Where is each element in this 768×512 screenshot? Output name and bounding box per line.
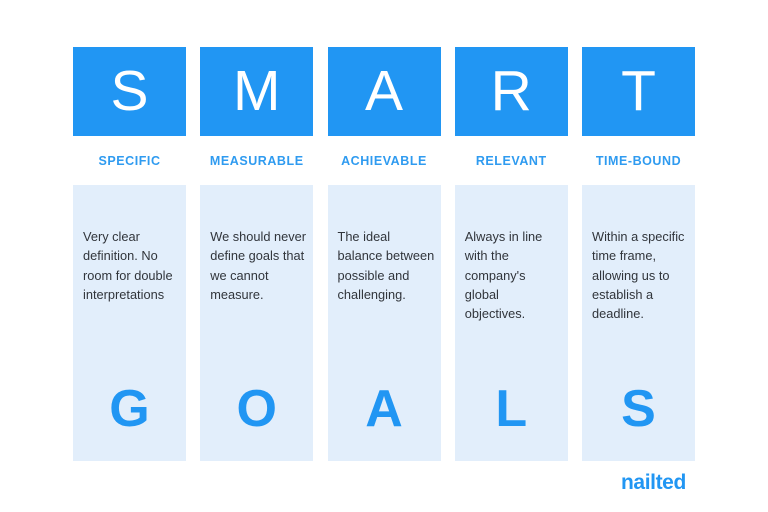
smart-letter-s: S bbox=[110, 63, 148, 120]
description-specific: Very clear definition. No room for doubl… bbox=[83, 227, 180, 304]
letter-box-m: M bbox=[200, 47, 313, 136]
caption-relevant: RELEVANT bbox=[455, 136, 568, 185]
smart-column-relevant: R RELEVANT Always in line with the compa… bbox=[455, 47, 568, 461]
panel-measurable: We should never define goals that we can… bbox=[200, 185, 313, 461]
letter-box-s: S bbox=[73, 47, 186, 136]
smart-columns: S SPECIFIC Very clear definition. No roo… bbox=[73, 47, 695, 461]
caption-label-achievable: ACHIEVABLE bbox=[341, 154, 427, 168]
nailted-logo: nailted bbox=[621, 471, 701, 495]
smart-column-achievable: A ACHIEVABLE The ideal balance between p… bbox=[328, 47, 441, 461]
caption-label-time-bound: TIME-BOUND bbox=[596, 154, 681, 168]
nailted-logo-text: nailted bbox=[621, 471, 686, 494]
goal-letter-a: A bbox=[328, 383, 441, 435]
smart-column-specific: S SPECIFIC Very clear definition. No roo… bbox=[73, 47, 186, 461]
goal-letter-g: G bbox=[73, 383, 186, 435]
panel-time-bound: Within a specific time frame, allowing u… bbox=[582, 185, 695, 461]
smart-letter-m: M bbox=[233, 63, 280, 120]
description-relevant: Always in line with the company's global… bbox=[465, 227, 562, 323]
goal-letter-l: L bbox=[455, 383, 568, 435]
smart-goals-infographic: S SPECIFIC Very clear definition. No roo… bbox=[0, 0, 768, 512]
smart-letter-a: A bbox=[365, 63, 403, 120]
panel-specific: Very clear definition. No room for doubl… bbox=[73, 185, 186, 461]
goal-letter-s: S bbox=[582, 383, 695, 435]
caption-label-specific: SPECIFIC bbox=[98, 154, 160, 168]
caption-achievable: ACHIEVABLE bbox=[328, 136, 441, 185]
letter-box-a: A bbox=[328, 47, 441, 136]
description-measurable: We should never define goals that we can… bbox=[210, 227, 307, 304]
caption-time-bound: TIME-BOUND bbox=[582, 136, 695, 185]
panel-achievable: The ideal balance between possible and c… bbox=[328, 185, 441, 461]
letter-box-t: T bbox=[582, 47, 695, 136]
goal-letter-o: O bbox=[200, 383, 313, 435]
smart-letter-t: T bbox=[621, 63, 656, 120]
caption-specific: SPECIFIC bbox=[73, 136, 186, 185]
smart-letter-r: R bbox=[491, 63, 532, 120]
panel-relevant: Always in line with the company's global… bbox=[455, 185, 568, 461]
smart-column-time-bound: T TIME-BOUND Within a specific time fram… bbox=[582, 47, 695, 461]
caption-label-measurable: MEASURABLE bbox=[210, 154, 304, 168]
caption-measurable: MEASURABLE bbox=[200, 136, 313, 185]
smart-column-measurable: M MEASURABLE We should never define goal… bbox=[200, 47, 313, 461]
letter-box-r: R bbox=[455, 47, 568, 136]
caption-label-relevant: RELEVANT bbox=[476, 154, 547, 168]
description-time-bound: Within a specific time frame, allowing u… bbox=[592, 227, 689, 323]
description-achievable: The ideal balance between possible and c… bbox=[338, 227, 435, 304]
